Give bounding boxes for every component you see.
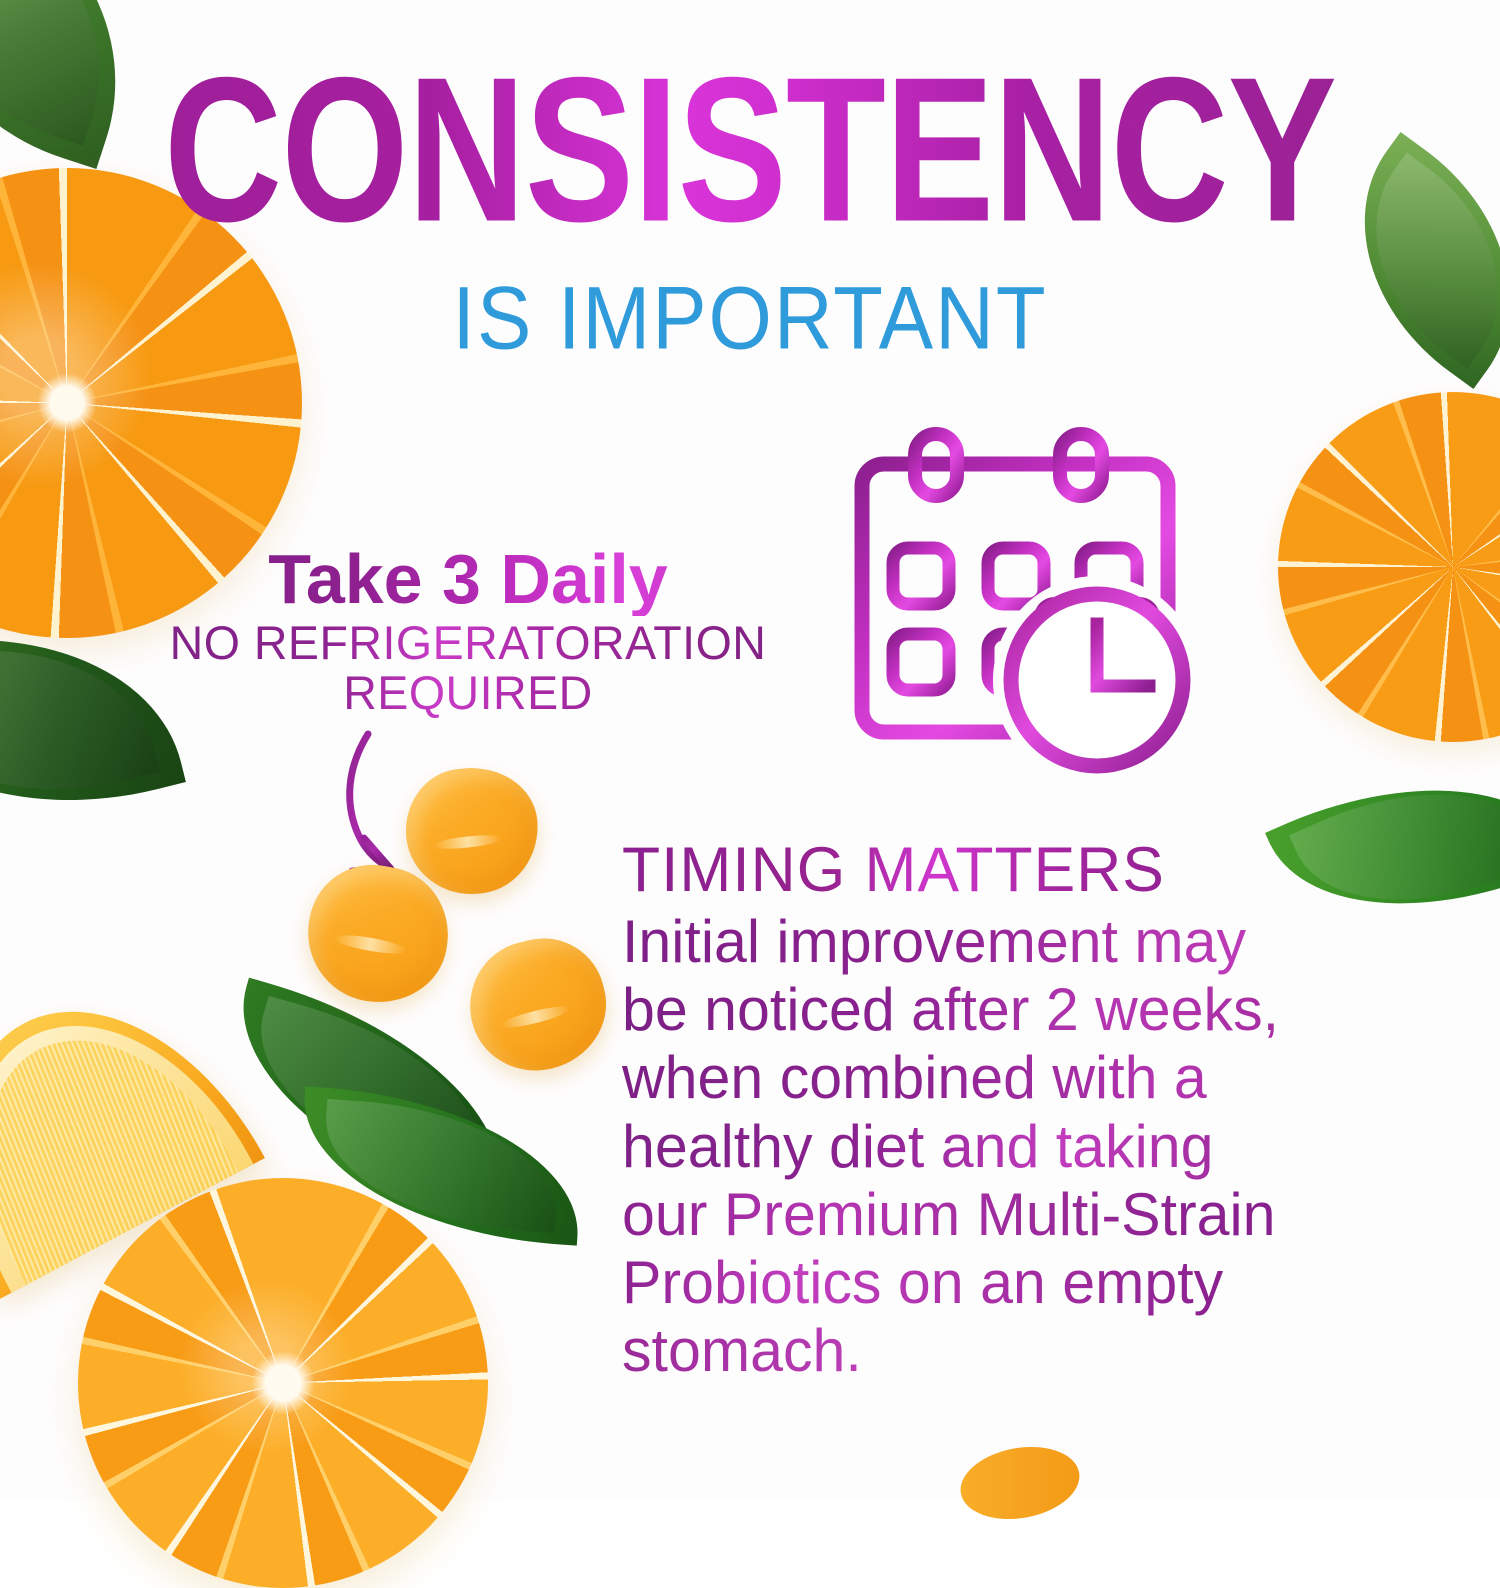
- timing-body-line: healthy diet and taking: [622, 1113, 1400, 1181]
- poster-canvas: CONSISTENCY IS IMPORTANT Take 3 Daily NO…: [0, 0, 1500, 1500]
- dosage-note-line-1: NO REFRIGERATORATION: [170, 616, 767, 669]
- orange-slice-right: [1278, 392, 1500, 742]
- orange-wedge: [0, 953, 265, 1299]
- timing-body-line: Initial improvement may: [622, 908, 1400, 976]
- dosage-note: NO REFRIGERATORATION REQUIRED: [122, 618, 815, 718]
- dosage-heading: Take 3 Daily: [118, 542, 818, 616]
- timing-body-line: our Premium Multi-Strain: [622, 1181, 1400, 1249]
- page-title: CONSISTENCY: [53, 52, 1448, 250]
- hero-heading-group: CONSISTENCY IS IMPORTANT: [0, 52, 1500, 364]
- timing-body-text: Initial improvement may be noticed after…: [622, 908, 1400, 1385]
- timing-body-line: stomach.: [622, 1317, 1400, 1385]
- timing-body-line: be noticed after 2 weeks,: [622, 976, 1400, 1044]
- timing-heading: TIMING MATTERS: [622, 838, 1404, 902]
- orange-piece: [955, 1438, 1085, 1528]
- gummy-icon: [456, 925, 619, 1084]
- dosage-callout: Take 3 Daily NO REFRIGERATORATION REQUIR…: [118, 542, 818, 718]
- leaf-icon: [295, 1086, 586, 1245]
- timing-body-line: when combined with a: [622, 1044, 1400, 1112]
- timing-callout: TIMING MATTERS Initial improvement may b…: [622, 838, 1412, 1385]
- timing-body-line: Probiotics on an empty: [622, 1249, 1400, 1317]
- orange-slice-bottom-left: [78, 1178, 488, 1588]
- calendar-clock-icon: [838, 426, 1208, 776]
- dosage-note-line-2: REQUIRED: [343, 666, 593, 719]
- page-subtitle: IS IMPORTANT: [23, 267, 1478, 370]
